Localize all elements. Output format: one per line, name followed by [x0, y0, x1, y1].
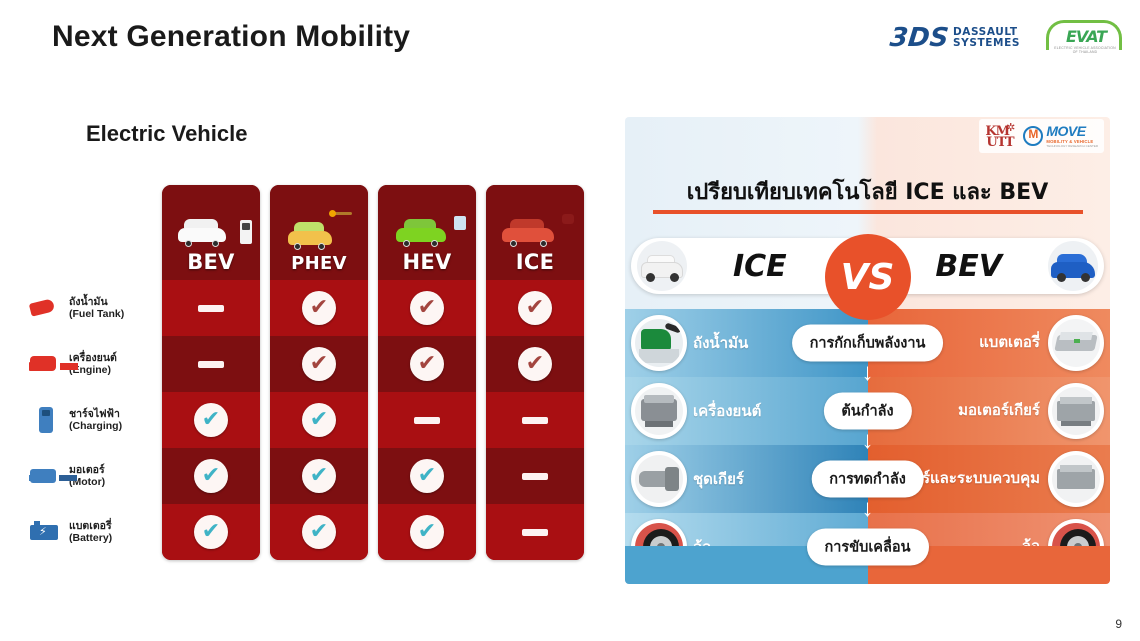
cell-check-mark: ✔	[302, 403, 336, 437]
matrix-row-label: มอเตอร์(Motor)	[30, 448, 158, 504]
matrix-cell[interactable]: ✔	[378, 336, 476, 392]
flow-arrow-icon: ↓	[862, 497, 874, 521]
matrix-column-title: BEV	[187, 250, 235, 274]
matrix-row-label-text: มอเตอร์(Motor)	[69, 464, 105, 489]
cell-check-mark: ✔	[410, 291, 444, 325]
matrix-column-header: PHEV	[270, 185, 368, 280]
matrix-cell[interactable]	[162, 280, 260, 336]
row-label-th: เครื่องยนต์	[69, 352, 117, 364]
matrix-column-title: HEV	[402, 250, 451, 274]
logo-bar: 3DS DASSAULT SYSTEMES EVAT ELECTRIC VEHI…	[890, 18, 1122, 58]
comparison-center-label: ต้นกำลัง	[823, 393, 911, 430]
cell-check-mark: ✔	[302, 291, 336, 325]
comparison-left-label: ถังน้ำมัน	[693, 309, 748, 377]
cell-dash-mark	[522, 473, 548, 480]
inverter-photo	[1048, 451, 1104, 507]
comparison-center-label: การทดกำลัง	[811, 461, 924, 498]
matrix-column-phev[interactable]: PHEV✔✔✔✔✔	[270, 185, 368, 560]
cell-check-mark: ✔	[302, 515, 336, 549]
matrix-row-label-text: แบตเตอรี่(Battery)	[69, 520, 112, 545]
matrix-column-header: HEV	[378, 185, 476, 280]
cell-check-mark: ✔	[302, 459, 336, 493]
kmutt-logo: KM UTT ✲	[985, 121, 1015, 151]
kmutt-spark-icon: ✲	[1006, 121, 1015, 134]
row-label-en: (Charging)	[69, 420, 122, 432]
versus-badge: VS	[825, 234, 911, 320]
vehicle-comparison-matrix: ถังน้ำมัน(Fuel Tank)เครื่องยนต์(Engine)ช…	[30, 185, 590, 560]
cell-check-mark: ✔	[194, 403, 228, 437]
matrix-row-labels: ถังน้ำมัน(Fuel Tank)เครื่องยนต์(Engine)ช…	[30, 280, 158, 560]
evat-wordmark: EVAT	[1058, 27, 1114, 46]
matrix-cell[interactable]: ✔	[270, 392, 368, 448]
matrix-cell[interactable]: ✔	[162, 448, 260, 504]
ice-car-icon	[492, 208, 578, 248]
matrix-cell[interactable]: ✔	[486, 336, 584, 392]
matrix-column-title: ICE	[516, 250, 554, 274]
row-label-th: แบตเตอรี่	[69, 520, 112, 532]
flow-arrow-icon: ↓	[862, 429, 874, 453]
matrix-column-title: PHEV	[291, 253, 347, 274]
comparison-right-line: เกียร์	[1009, 402, 1040, 419]
electric-motor-photo	[1048, 383, 1104, 439]
comparison-right-label: แบตเตอรี่	[979, 309, 1040, 377]
cell-check-mark: ✔	[194, 459, 228, 493]
dassault-line2: SYSTEMES	[953, 37, 1020, 49]
engine-icon	[30, 349, 62, 379]
row-label-en: (Engine)	[69, 364, 117, 376]
cell-check-mark: ✔	[518, 291, 552, 325]
engine-block-photo	[631, 383, 687, 439]
ice-label: ICE	[733, 249, 787, 284]
matrix-column-header: BEV	[162, 185, 260, 280]
row-label-en: (Fuel Tank)	[69, 308, 124, 320]
matrix-cell[interactable]: ✔	[378, 448, 476, 504]
cell-check-mark: ✔	[410, 459, 444, 493]
comparison-right-line: แบตเตอรี่	[979, 334, 1040, 351]
cell-check-mark: ✔	[302, 347, 336, 381]
row-label-en: (Motor)	[69, 476, 105, 488]
motor-icon	[30, 461, 62, 491]
comparison-left-label: ชุดเกียร์	[693, 445, 744, 513]
row-label-th: ชาร์จไฟฟ้า	[69, 408, 120, 420]
matrix-row-label-text: ถังน้ำมัน(Fuel Tank)	[69, 296, 124, 321]
charging-station-icon	[30, 405, 62, 435]
evat-subtext: ELECTRIC VEHICLE ASSOCIATION OF THAILAND	[1052, 46, 1118, 54]
hev-car-icon	[384, 208, 470, 248]
comparison-center-label: การกักเก็บพลังงาน	[792, 325, 944, 362]
matrix-cell[interactable]	[378, 392, 476, 448]
phev-car-plug-icon	[276, 211, 362, 251]
matrix-cell[interactable]: ✔	[270, 336, 368, 392]
row-label-en: (Battery)	[69, 532, 112, 544]
ice-vs-bev-infographic: KM UTT ✲ MOVE MOBILITY & VEHICLE TECHNOL…	[625, 117, 1110, 584]
matrix-column-header: ICE	[486, 185, 584, 280]
section-subtitle: Electric Vehicle	[86, 121, 247, 147]
battery-pack-photo	[1048, 315, 1104, 371]
matrix-cell[interactable]: ✔	[486, 280, 584, 336]
evat-logo: EVAT ELECTRIC VEHICLE ASSOCIATION OF THA…	[1046, 18, 1122, 58]
matrix-columns: BEV✔✔✔PHEV✔✔✔✔✔HEV✔✔✔✔ICE✔✔	[162, 185, 584, 560]
versus-band: ICE VS BEV	[625, 230, 1110, 302]
move-circle-icon	[1023, 126, 1043, 146]
matrix-cell[interactable]: ✔	[270, 448, 368, 504]
matrix-cell[interactable]: ✔	[270, 280, 368, 336]
matrix-column-ice[interactable]: ICE✔✔	[486, 185, 584, 560]
dassault-systemes-logo: 3DS DASSAULT SYSTEMES	[890, 25, 1020, 51]
matrix-cell[interactable]	[486, 448, 584, 504]
matrix-cell[interactable]: ✔	[378, 280, 476, 336]
matrix-cell[interactable]	[162, 336, 260, 392]
cell-check-mark: ✔	[410, 347, 444, 381]
cell-dash-mark	[198, 305, 224, 312]
flow-arrow-icon: ↓	[862, 361, 874, 385]
move-logo: MOVE MOBILITY & VEHICLE TECHNOLOGY RESEA…	[1023, 124, 1098, 147]
move-wordmark: MOVE MOBILITY & VEHICLE TECHNOLOGY RESEA…	[1046, 124, 1098, 147]
matrix-column-bev[interactable]: BEV✔✔✔	[162, 185, 260, 560]
comparison-center-label: การขับเคลื่อน	[807, 529, 929, 566]
cell-check-mark: ✔	[194, 515, 228, 549]
matrix-row-label: เครื่องยนต์(Engine)	[30, 336, 158, 392]
gearbox-photo	[631, 451, 687, 507]
kmutt-utt-text: UTT	[986, 135, 1013, 150]
battery-icon	[30, 517, 62, 547]
matrix-cell[interactable]	[486, 504, 584, 560]
page-title: Next Generation Mobility	[52, 20, 410, 54]
cell-dash-mark	[522, 417, 548, 424]
fuel-tank-icon	[30, 293, 62, 323]
matrix-row-label: ชาร์จไฟฟ้า(Charging)	[30, 392, 158, 448]
cell-dash-mark	[522, 529, 548, 536]
cell-check-mark: ✔	[518, 347, 552, 381]
matrix-cell[interactable]	[486, 392, 584, 448]
comparison-row: ชุดเกียร์การทดกำลังอินเวอร์เตอร์และระบบค…	[625, 445, 1110, 513]
move-sub2: TECHNOLOGY RESEARCH CENTER	[1046, 145, 1098, 148]
comparison-rows: ถังน้ำมันการกักเก็บพลังงานแบตเตอรี่↓เครื…	[625, 309, 1110, 584]
dassault-wordmark: DASSAULT SYSTEMES	[953, 27, 1020, 50]
move-word: MOVE	[1046, 123, 1085, 139]
comparison-left-label: เครื่องยนต์	[693, 377, 761, 445]
cell-dash-mark	[198, 361, 224, 368]
row-label-th: มอเตอร์	[69, 464, 105, 476]
row-label-th: ถังน้ำมัน	[69, 296, 108, 308]
comparison-row: เครื่องยนต์ต้นกำลังมอเตอร์เกียร์↓	[625, 377, 1110, 445]
cell-dash-mark	[414, 417, 440, 424]
white-suv-photo	[637, 241, 687, 291]
comparison-right-line: มอเตอร์	[958, 402, 1009, 419]
matrix-cell[interactable]: ✔	[378, 504, 476, 560]
matrix-cell[interactable]: ✔	[270, 504, 368, 560]
matrix-column-hev[interactable]: HEV✔✔✔✔	[378, 185, 476, 560]
comparison-right-line: และระบบควบคุม	[930, 470, 1040, 487]
matrix-row-label-text: ชาร์จไฟฟ้า(Charging)	[69, 408, 122, 433]
dassault-3ds-mark: 3DS	[888, 25, 949, 51]
matrix-cell[interactable]: ✔	[162, 392, 260, 448]
matrix-row-label-text: เครื่องยนต์(Engine)	[69, 352, 117, 377]
matrix-cell[interactable]: ✔	[162, 504, 260, 560]
blue-ev-photo	[1048, 241, 1098, 291]
dassault-line1: DASSAULT	[953, 26, 1018, 38]
bev-car-charger-icon	[168, 208, 254, 248]
bev-label: BEV	[935, 249, 1002, 284]
page-number: 9	[1115, 617, 1122, 631]
cell-check-mark: ✔	[410, 515, 444, 549]
comparison-right-label: มอเตอร์เกียร์	[958, 377, 1040, 445]
fuel-nozzle-photo	[631, 315, 687, 371]
panel-title: เปรียบเทียบเทคโนโลยี ICE และ BEV	[625, 174, 1110, 209]
matrix-row-label: แบตเตอรี่(Battery)	[30, 504, 158, 560]
matrix-row-label: ถังน้ำมัน(Fuel Tank)	[30, 280, 158, 336]
panel-logo-bar: KM UTT ✲ MOVE MOBILITY & VEHICLE TECHNOL…	[979, 119, 1104, 153]
panel-title-divider	[653, 210, 1083, 214]
